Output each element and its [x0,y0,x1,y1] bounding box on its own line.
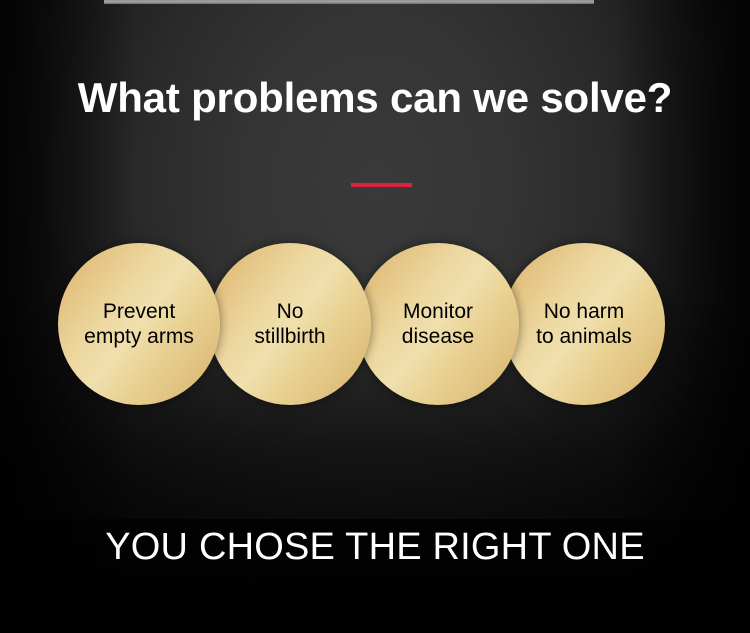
benefit-bubble-label: No stillbirth [209,299,371,349]
benefit-bubble-no-harm-to-animals[interactable]: No harm to animals [503,243,665,405]
slide-footer-text: YOU CHOSE THE RIGHT ONE [0,526,750,569]
benefit-bubble-label: Prevent empty arms [58,299,220,349]
benefit-bubble-label: Monitor disease [357,299,519,349]
benefit-bubble-monitor-disease[interactable]: Monitor disease [357,243,519,405]
title-accent-underline [351,183,412,187]
benefit-bubble-label: No harm to animals [503,299,665,349]
presentation-slide: What problems can we solve? Prevent empt… [0,0,750,633]
benefit-bubble-no-stillbirth[interactable]: No stillbirth [209,243,371,405]
benefit-bubble-group: Prevent empty arms No stillbirth Monitor… [0,243,750,405]
top-divider-rule [104,0,594,4]
benefit-bubble-prevent-empty-arms[interactable]: Prevent empty arms [58,243,220,405]
slide-title: What problems can we solve? [0,74,750,122]
